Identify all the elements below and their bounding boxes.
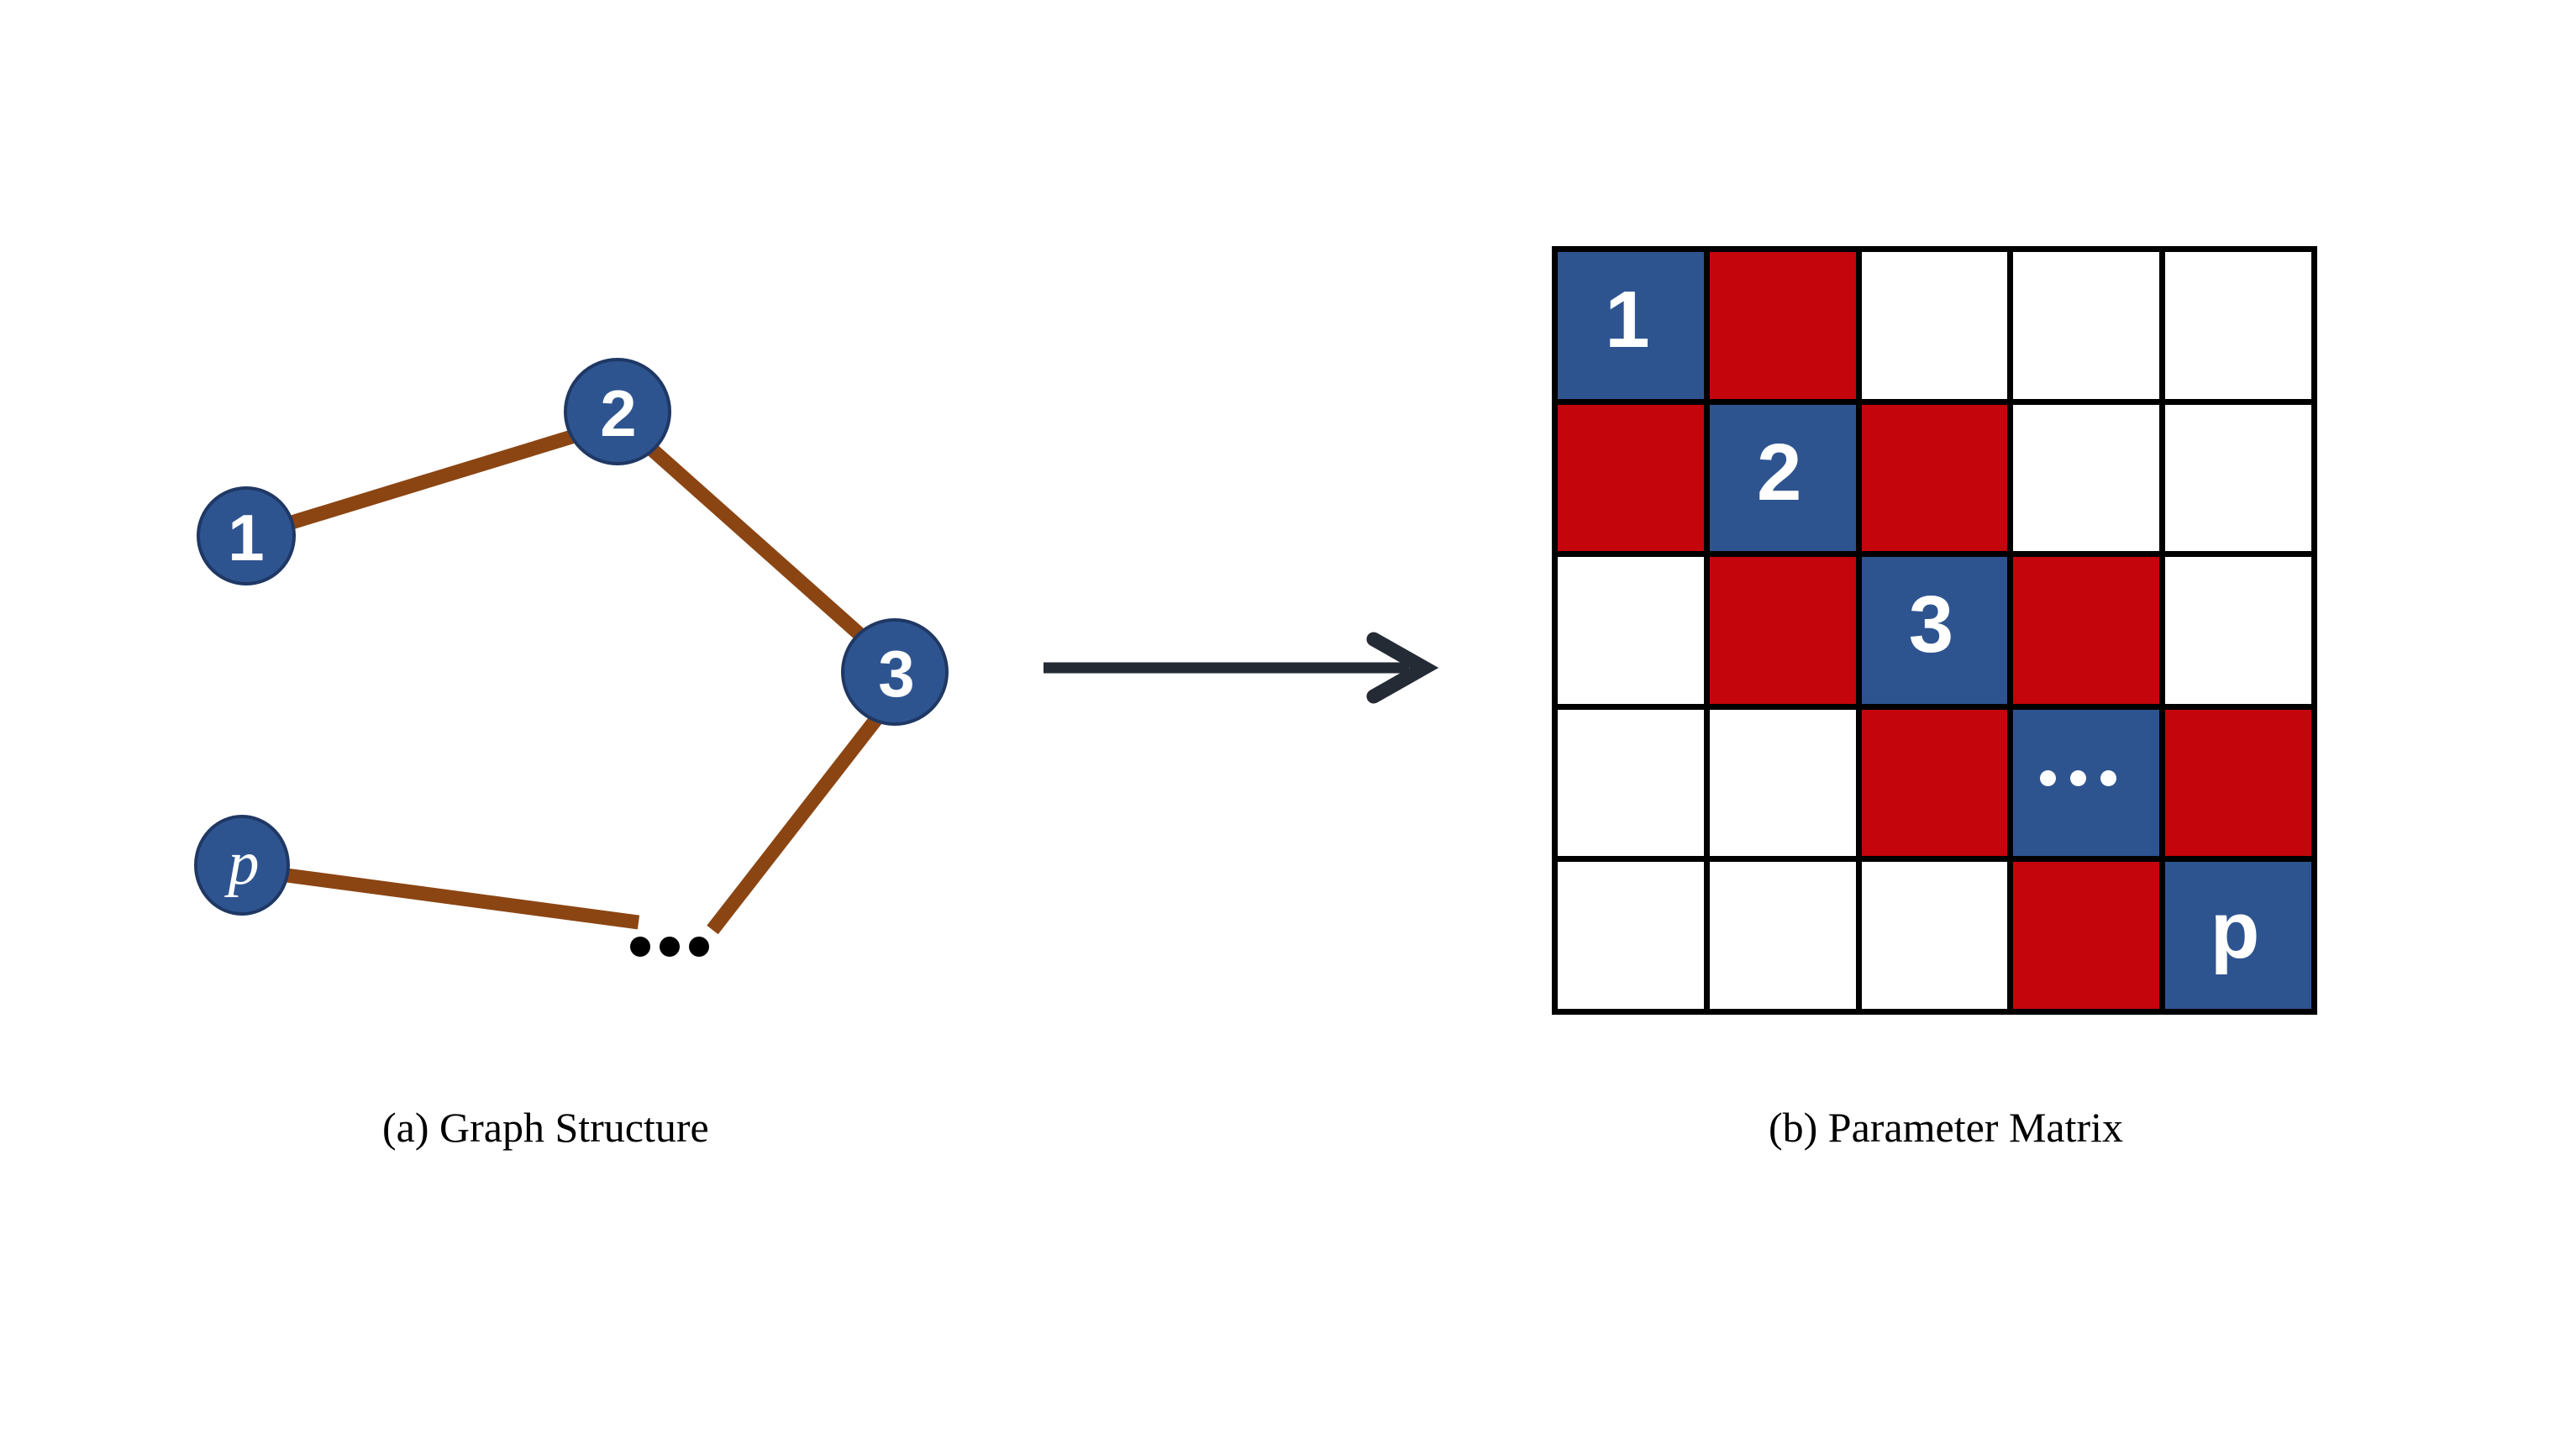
graph-node-2[interactable]: 2 — [565, 360, 670, 464]
matrix-cell-r4c3[interactable] — [1862, 710, 2008, 857]
edge-1-2 — [292, 435, 577, 522]
node-3-label: 3 — [878, 637, 914, 711]
matrix-cell-r1c4[interactable] — [2013, 252, 2159, 399]
matrix-cell-r1c2[interactable] — [1710, 252, 1856, 399]
matrix-cell-r5c4[interactable] — [2013, 862, 2159, 1009]
matrix-cell-r3c4[interactable] — [2013, 557, 2159, 704]
edge-3-ellipsis — [712, 719, 876, 930]
transform-arrow-wrap — [1029, 622, 1449, 722]
graph-node-3[interactable]: 3 — [843, 620, 947, 724]
matrix-cell-r1c3[interactable] — [1862, 252, 2008, 399]
matrix-cell-r5c5[interactable]: p — [2165, 862, 2311, 1009]
graph-svg: 1 2 3 p — [0, 0, 1042, 1084]
transform-arrow-icon — [1029, 622, 1449, 722]
matrix-cell-r3c2[interactable] — [1710, 557, 1856, 704]
matrix-cell-r5c2[interactable] — [1710, 862, 1856, 1009]
matrix-cell-r2c4[interactable] — [2013, 405, 2159, 552]
figure-canvas: 1 2 3 p — [0, 0, 2576, 1449]
matrix-cell-r2c2[interactable]: 2 — [1710, 405, 1856, 552]
matrix-cell-r4c5[interactable] — [2165, 710, 2311, 857]
matrix-cell-label-r1c1: 1 — [1605, 280, 1649, 360]
caption-parameter-matrix: (b) Parameter Matrix — [1769, 1103, 2123, 1152]
matrix-cell-r1c5[interactable] — [2165, 252, 2311, 399]
matrix-cell-r3c1[interactable] — [1558, 557, 1704, 704]
matrix-cell-r5c1[interactable] — [1558, 862, 1704, 1009]
matrix-cell-r2c1[interactable] — [1558, 405, 1704, 552]
parameter-matrix-grid: 1 2 3 — [1552, 246, 2317, 1015]
matrix-cell-r5c3[interactable] — [1862, 862, 2008, 1009]
node-p-label: p — [224, 829, 260, 898]
parameter-matrix-panel: 1 2 3 — [1546, 240, 2327, 1080]
matrix-ellipsis-icon — [2040, 770, 2116, 786]
graph-node-p[interactable]: p — [196, 816, 288, 914]
matrix-cell-label-r3c3: 3 — [1909, 585, 1953, 665]
matrix-cell-r1c1[interactable]: 1 — [1558, 252, 1704, 399]
matrix-cell-r2c5[interactable] — [2165, 405, 2311, 552]
matrix-cell-r4c2[interactable] — [1710, 710, 1856, 857]
matrix-cell-label-r2c2: 2 — [1757, 433, 1801, 513]
graph-structure-panel: 1 2 3 p — [0, 0, 1042, 1084]
matrix-cell-r4c1[interactable] — [1558, 710, 1704, 857]
node-2-label: 2 — [600, 376, 636, 450]
graph-node-1[interactable]: 1 — [198, 488, 294, 584]
matrix-cell-r4c4[interactable] — [2013, 710, 2159, 857]
caption-graph-structure: (a) Graph Structure — [382, 1103, 709, 1152]
matrix-cell-r2c3[interactable] — [1862, 405, 2008, 552]
edge-p-ellipsis — [287, 875, 639, 922]
edge-2-3 — [653, 450, 860, 634]
matrix-cell-r3c5[interactable] — [2165, 557, 2311, 704]
graph-edges — [287, 435, 876, 930]
graph-ellipsis-icon — [630, 937, 709, 957]
node-1-label: 1 — [228, 501, 264, 575]
matrix-cell-label-r5c5: p — [2211, 890, 2260, 971]
matrix-cell-r3c3[interactable]: 3 — [1862, 557, 2008, 704]
